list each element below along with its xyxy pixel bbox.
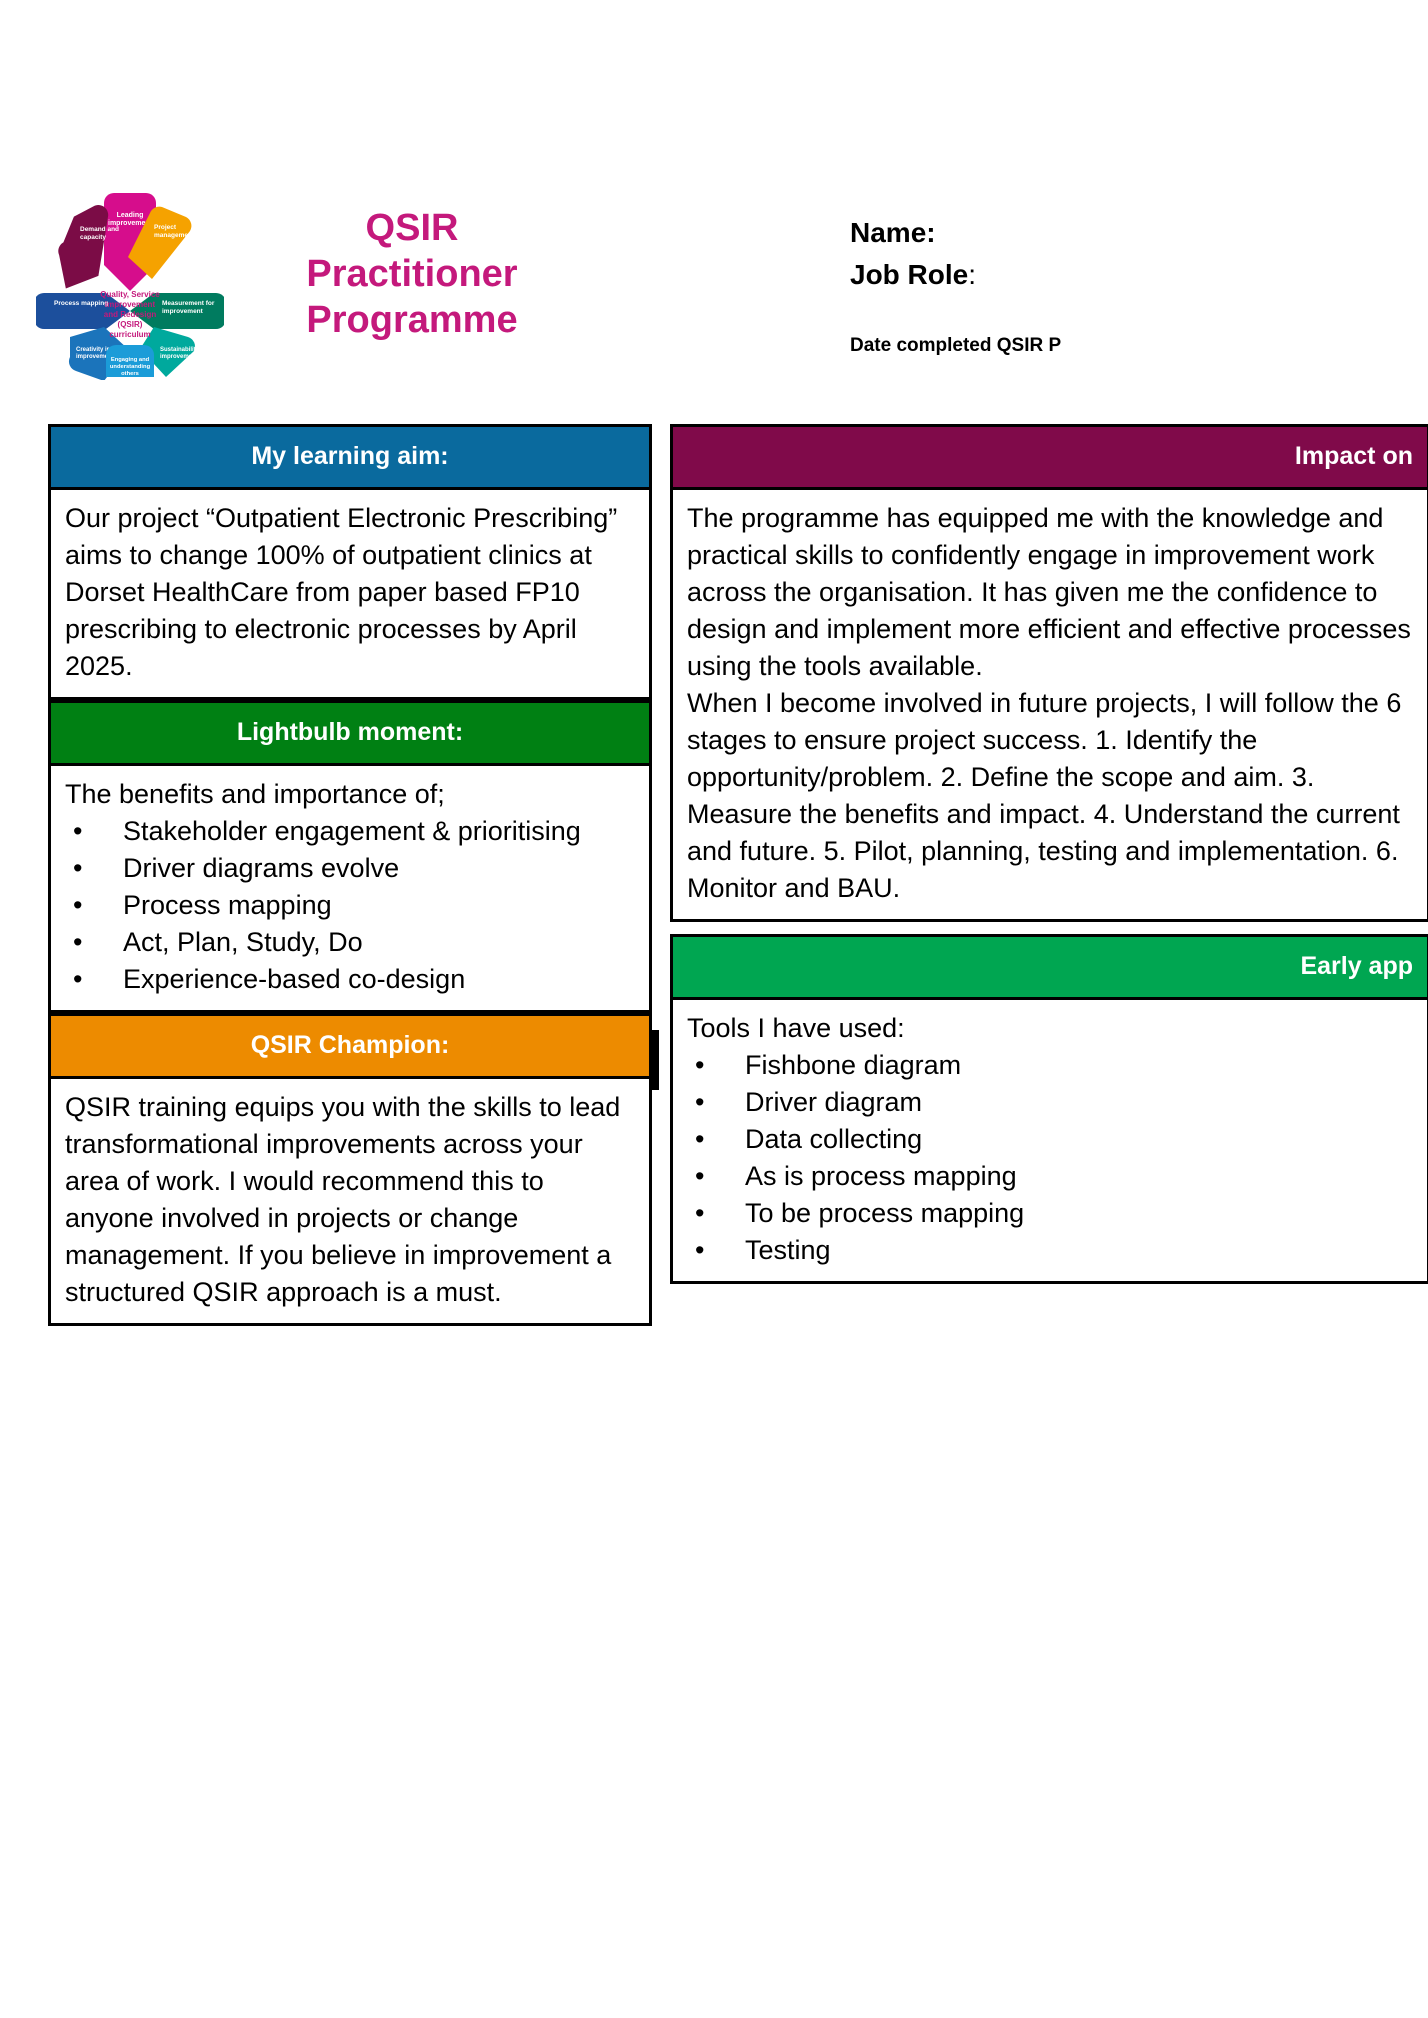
early-application-heading: Early app — [670, 934, 1428, 1000]
list-item: Fishbone diagram — [687, 1047, 1415, 1084]
svg-text:Project: Project — [154, 224, 177, 231]
svg-text:management: management — [154, 232, 195, 239]
learning-aim-heading: My learning aim: — [48, 424, 652, 490]
svg-text:Sustainability of: Sustainability of — [160, 347, 207, 353]
name-row: Name: — [850, 212, 1428, 254]
svg-text:Measurement for: Measurement for — [162, 300, 215, 307]
panel-shadow-edge — [650, 1030, 659, 1090]
right-column: Impact on The programme has equipped me … — [670, 424, 1428, 1284]
svg-text:and Redesign: and Redesign — [104, 310, 157, 319]
svg-text:Process mapping: Process mapping — [54, 300, 108, 307]
lightbulb-intro: The benefits and importance of; — [65, 776, 637, 813]
name-label: Name: — [850, 217, 936, 248]
svg-text:curriculum: curriculum — [109, 330, 150, 339]
poster-header: Leading improvement Demand and capacity … — [0, 0, 1428, 410]
early-application-intro: Tools I have used: — [687, 1010, 1415, 1047]
participant-details: Name: Job Role: — [850, 212, 1428, 296]
svg-text:Creativity in: Creativity in — [76, 347, 111, 353]
list-item: Stakeholder engagement & prioritising — [65, 813, 637, 850]
learning-aim-body: Our project “Outpatient Electronic Presc… — [48, 490, 652, 700]
svg-text:improvement: improvement — [162, 308, 204, 315]
svg-text:capacity: capacity — [80, 234, 106, 241]
job-role-colon: : — [968, 259, 976, 290]
svg-text:improvement: improvement — [105, 300, 156, 309]
learning-aim-text: Our project “Outpatient Electronic Presc… — [65, 500, 637, 685]
title-line-3: Programme — [262, 297, 562, 343]
list-item: As is process mapping — [687, 1158, 1415, 1195]
list-item: Experience-based co-design — [65, 961, 637, 998]
lightbulb-body: The benefits and importance of; Stakehol… — [48, 766, 652, 1013]
job-role-row: Job Role: — [850, 254, 1428, 296]
qsir-champion-heading: QSIR Champion: — [48, 1013, 652, 1079]
list-item: Driver diagram — [687, 1084, 1415, 1121]
impact-heading: Impact on — [670, 424, 1428, 490]
list-item: Process mapping — [65, 887, 637, 924]
qsir-flower-logo: Leading improvement Demand and capacity … — [36, 175, 224, 380]
svg-text:Engaging and: Engaging and — [111, 357, 150, 363]
svg-text:(QSIR): (QSIR) — [118, 320, 143, 329]
impact-paragraph-2: When I become involved in future project… — [687, 685, 1415, 907]
svg-text:understanding: understanding — [110, 364, 151, 370]
list-item: Data collecting — [687, 1121, 1415, 1158]
early-application-body: Tools I have used: Fishbone diagram Driv… — [670, 1000, 1428, 1284]
left-column: My learning aim: Our project “Outpatient… — [48, 424, 652, 1326]
impact-body: The programme has equipped me with the k… — [670, 490, 1428, 922]
list-item: Act, Plan, Study, Do — [65, 924, 637, 961]
svg-text:others: others — [121, 371, 139, 377]
svg-text:Demand and: Demand and — [80, 226, 119, 233]
list-item: Testing — [687, 1232, 1415, 1269]
list-item: Driver diagrams evolve — [65, 850, 637, 887]
list-item: To be process mapping — [687, 1195, 1415, 1232]
qsir-champion-text: QSIR training equips you with the skills… — [65, 1089, 637, 1311]
svg-text:Leading: Leading — [117, 212, 144, 219]
lightbulb-heading: Lightbulb moment: — [48, 700, 652, 766]
date-completed-label: Date completed QSIR P — [850, 335, 1061, 357]
lightbulb-bullet-list: Stakeholder engagement & prioritising Dr… — [65, 813, 637, 998]
page-title: QSIR Practitioner Programme — [262, 205, 562, 343]
impact-paragraph-1: The programme has equipped me with the k… — [687, 500, 1415, 685]
title-line-2: Practitioner — [262, 251, 562, 297]
svg-text:improvement: improvement — [160, 354, 198, 360]
svg-text:Quality, Service: Quality, Service — [100, 290, 160, 299]
job-role-label: Job Role — [850, 259, 968, 290]
qsir-champion-body: QSIR training equips you with the skills… — [48, 1079, 652, 1326]
title-line-1: QSIR — [262, 205, 562, 251]
early-application-bullet-list: Fishbone diagram Driver diagram Data col… — [687, 1047, 1415, 1269]
